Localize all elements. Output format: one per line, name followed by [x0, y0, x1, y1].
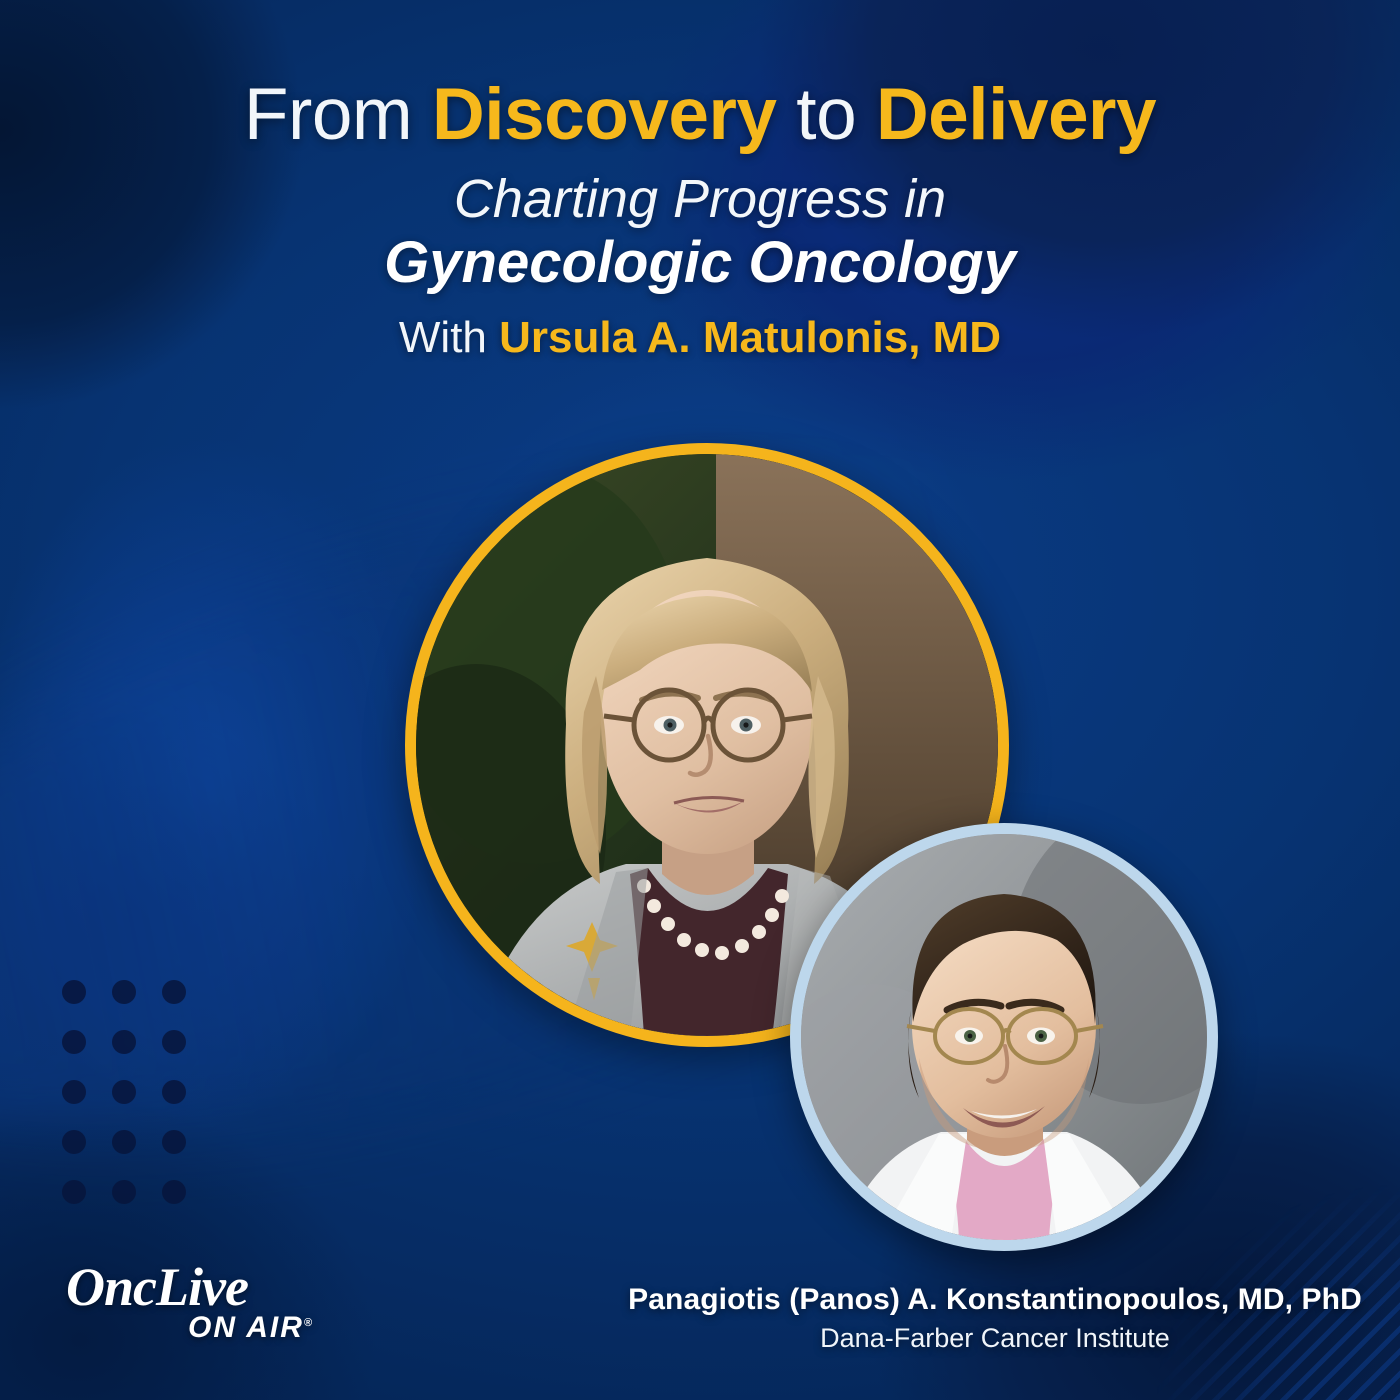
portrait-secondary-konstantinopoulos: [790, 823, 1218, 1251]
speaker-institution: Dana-Farber Cancer Institute: [600, 1323, 1390, 1354]
portrait-secondary-image: [801, 834, 1207, 1240]
grid-dot: [112, 1080, 136, 1104]
grid-dot: [112, 980, 136, 1004]
subtitle-line-2: Gynecologic Oncology: [0, 233, 1400, 293]
grid-dot: [112, 1030, 136, 1054]
onclive-tagline-text: ON AIR: [188, 1311, 304, 1344]
title-text-to: to: [777, 74, 876, 155]
onclive-wordmark: OncLive: [66, 1262, 326, 1313]
grid-dot: [162, 1180, 186, 1204]
host-line: With Ursula A. Matulonis, MD: [0, 315, 1400, 361]
dot-grid-pattern: [62, 980, 192, 1240]
title-block: From Discovery to Delivery Charting Prog…: [0, 78, 1400, 362]
grid-dot: [162, 1030, 186, 1054]
background-swirl-mid-left-2: [0, 620, 440, 1240]
page-title: From Discovery to Delivery: [0, 78, 1400, 151]
grid-dot: [162, 1130, 186, 1154]
grid-dot: [62, 1180, 86, 1204]
poster-canvas: From Discovery to Delivery Charting Prog…: [0, 0, 1400, 1400]
registered-mark-icon: ®: [304, 1317, 312, 1329]
grid-dot: [112, 1130, 136, 1154]
grid-dot: [62, 1130, 86, 1154]
host-prefix-text: With: [399, 313, 499, 362]
title-text-from: From: [244, 74, 432, 155]
speaker-credit: Panagiotis (Panos) A. Konstantinopoulos,…: [600, 1283, 1390, 1354]
grid-dot: [62, 1080, 86, 1104]
grid-dot: [62, 980, 86, 1004]
title-highlight-discovery: Discovery: [432, 74, 777, 155]
grid-dot: [162, 980, 186, 1004]
speaker-name: Panagiotis (Panos) A. Konstantinopoulos,…: [600, 1283, 1390, 1317]
portrait-secondary-artwork: [801, 834, 1207, 1240]
grid-dot: [112, 1180, 136, 1204]
grid-dot: [62, 1030, 86, 1054]
title-highlight-delivery: Delivery: [876, 74, 1156, 155]
host-name-text: Ursula A. Matulonis, MD: [499, 313, 1001, 362]
onclive-logo[interactable]: OncLive ON AIR®: [66, 1262, 326, 1345]
subtitle-line-1: Charting Progress in: [0, 171, 1400, 227]
grid-dot: [162, 1080, 186, 1104]
